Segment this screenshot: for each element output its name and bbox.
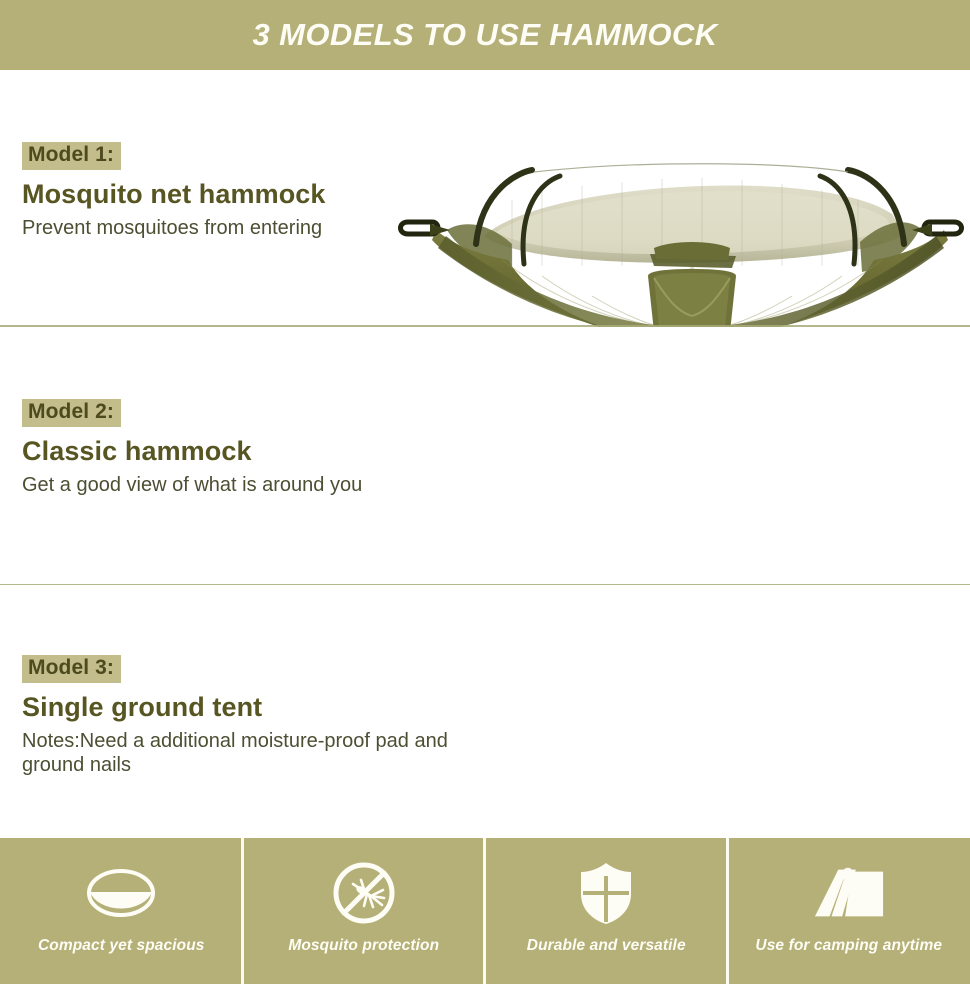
model-3-title: Single ground tent bbox=[22, 692, 492, 722]
model-2-text-block: Model 2: Classic hammock Get a good view… bbox=[22, 399, 362, 497]
feature-bar: Compact yet spacious bbox=[0, 838, 970, 984]
model-section-1: Model 1: Mosquito net hammock Prevent mo… bbox=[0, 70, 970, 326]
feature-compact-yet-spacious: Compact yet spacious bbox=[0, 838, 243, 984]
infographic-page: 3 MODELS TO USE HAMMOCK Model 1: Mosquit… bbox=[0, 0, 970, 984]
page-header: 3 MODELS TO USE HAMMOCK bbox=[0, 0, 970, 70]
feature-durable-and-versatile: Durable and versatile bbox=[485, 838, 728, 984]
model-3-subtitle: Notes:Need a additional moisture-proof p… bbox=[22, 729, 492, 778]
model-section-2: Model 2: Classic hammock Get a good view… bbox=[0, 327, 970, 584]
feature-mosquito-protection: Mosquito protection bbox=[243, 838, 486, 984]
feature-label-1: Compact yet spacious bbox=[38, 937, 205, 955]
model-1-subtitle: Prevent mosquitoes from entering bbox=[22, 216, 326, 240]
no-mosquito-icon bbox=[328, 857, 400, 929]
model-2-tag: Model 2: bbox=[22, 399, 121, 427]
model-2-title: Classic hammock bbox=[22, 436, 362, 466]
feature-label-3: Durable and versatile bbox=[527, 937, 686, 955]
model-3-text-block: Model 3: Single ground tent Notes:Need a… bbox=[22, 655, 492, 778]
feature-use-for-camping-anytime: Use for camping anytime bbox=[728, 838, 970, 984]
shield-icon bbox=[570, 857, 642, 929]
feature-label-2: Mosquito protection bbox=[288, 937, 439, 955]
model-3-tag: Model 3: bbox=[22, 655, 121, 683]
model-2-subtitle: Get a good view of what is around you bbox=[22, 473, 362, 497]
model-1-title: Mosquito net hammock bbox=[22, 179, 326, 209]
model-1-tag: Model 1: bbox=[22, 142, 121, 170]
tent-icon bbox=[813, 857, 885, 929]
hammock-icon bbox=[85, 857, 157, 929]
model-section-3: Model 3: Single ground tent Notes:Need a… bbox=[0, 585, 970, 838]
feature-label-4: Use for camping anytime bbox=[755, 937, 942, 955]
model-1-text-block: Model 1: Mosquito net hammock Prevent mo… bbox=[22, 142, 326, 240]
page-title: 3 MODELS TO USE HAMMOCK bbox=[252, 17, 717, 53]
